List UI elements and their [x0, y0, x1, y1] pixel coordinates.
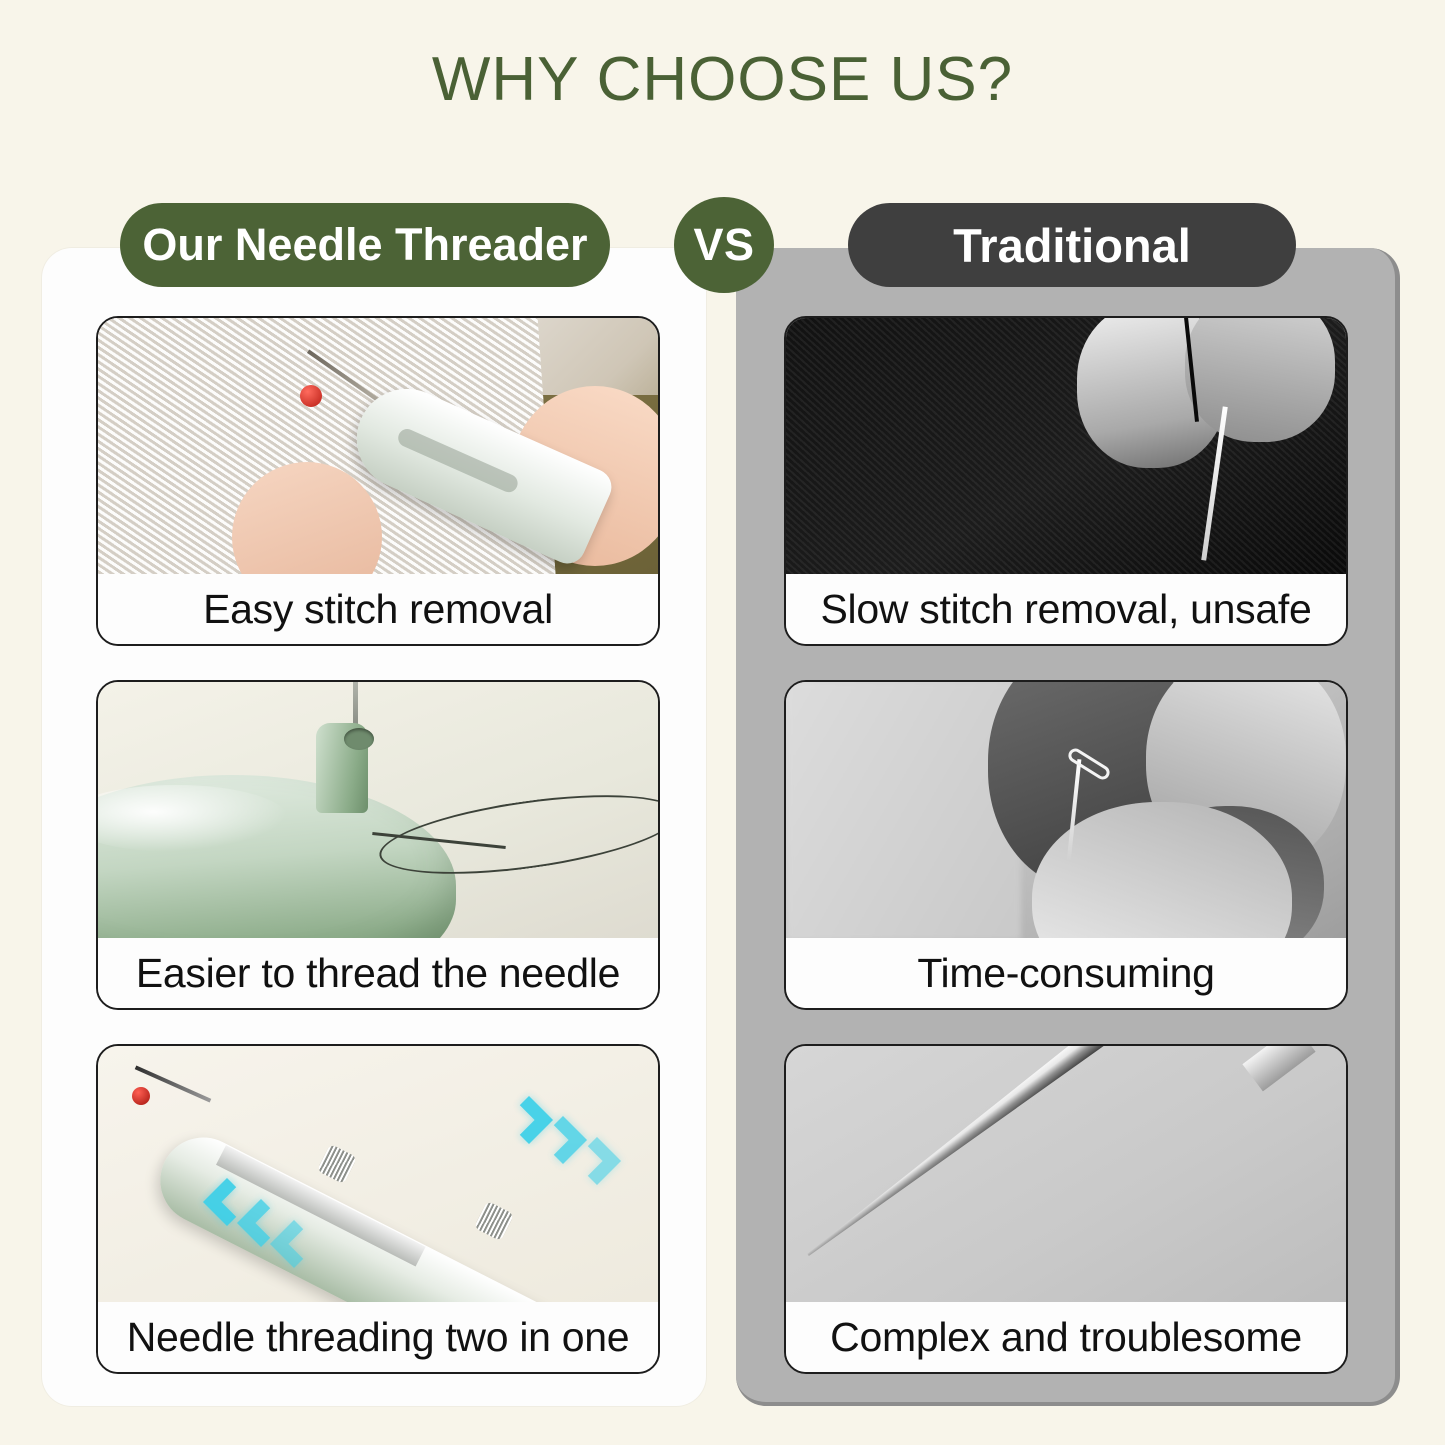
badge-vs: VS [674, 197, 774, 293]
badge-our-needle-threader: Our Needle Threader [120, 203, 610, 287]
blurred-background-shape [786, 682, 1021, 940]
fingernail-shape [1185, 318, 1335, 442]
seam-ripper-on-fabric-photo [98, 318, 658, 576]
red-tip-icon [132, 1087, 150, 1105]
tool-body-shape [146, 1123, 584, 1304]
card-caption: Complex and troublesome [786, 1302, 1346, 1372]
card-caption: Slow stitch removal, unsafe [786, 574, 1346, 644]
green-threader-device-photo [98, 682, 658, 940]
tool-knurl-shape [317, 1144, 357, 1184]
tool-groove-shape [396, 426, 521, 495]
card-caption: Time-consuming [786, 938, 1346, 1008]
metal-seam-ripper-photo [786, 1046, 1346, 1304]
metal-ferrule-shape [1243, 1046, 1316, 1091]
red-tip-icon [300, 385, 322, 407]
comparison-board: Easy stitch removal Easier to thread the… [42, 248, 1400, 1406]
badge-traditional: Traditional [848, 203, 1296, 287]
card-ours-1[interactable]: Easy stitch removal [96, 316, 660, 646]
card-traditional-2[interactable]: Time-consuming [784, 680, 1348, 1010]
card-ours-3[interactable]: Needle threading two in one [96, 1044, 660, 1374]
card-caption: Easy stitch removal [98, 574, 658, 644]
tool-knurl-shape [474, 1201, 514, 1241]
card-caption: Easier to thread the needle [98, 938, 658, 1008]
card-caption: Needle threading two in one [98, 1302, 658, 1372]
post-hole-shape [344, 728, 374, 750]
card-traditional-3[interactable]: Complex and troublesome [784, 1044, 1348, 1374]
hand-needle-dark-fabric-photo [786, 318, 1346, 576]
panel-traditional: Slow stitch removal, unsafe Time-consumi… [736, 248, 1400, 1406]
panel-our-needle-threader: Easy stitch removal Easier to thread the… [42, 248, 706, 1406]
card-ours-2[interactable]: Easier to thread the needle [96, 680, 660, 1010]
card-traditional-1[interactable]: Slow stitch removal, unsafe [784, 316, 1348, 646]
fingers-threading-needle-photo [786, 682, 1346, 940]
page-title: WHY CHOOSE US? [0, 44, 1445, 115]
threader-tool-with-arrows-photo [98, 1046, 658, 1304]
metal-blade-shape [801, 1046, 1165, 1265]
thread-loop-shape [375, 780, 658, 889]
